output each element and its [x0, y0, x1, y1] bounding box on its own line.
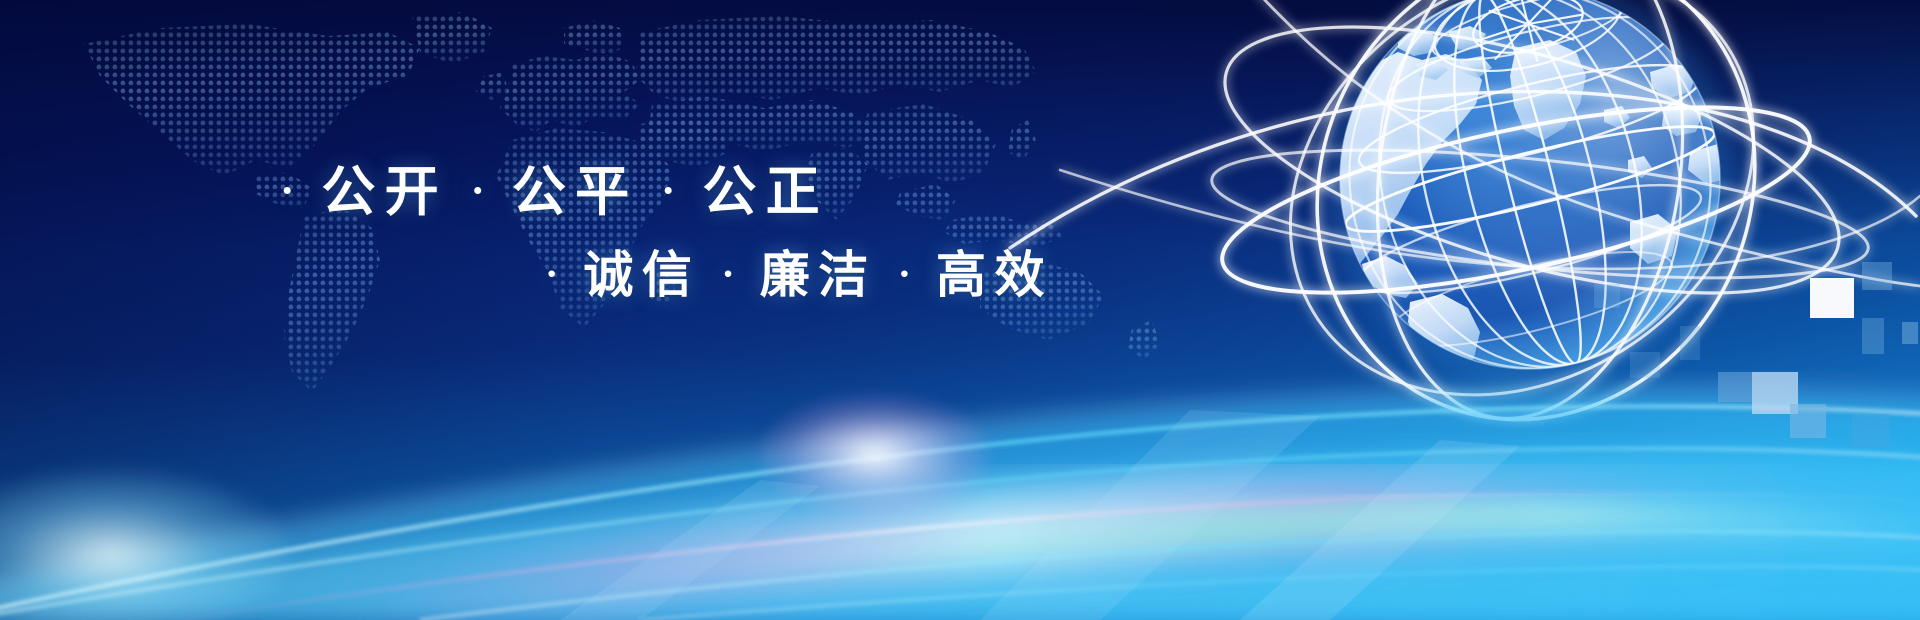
slogan-line-2: · 诚信 · 廉洁 · 高效: [545, 235, 1053, 307]
slogan-line-2-sep-2: ·: [898, 251, 915, 296]
square-pale-9: [1594, 284, 1620, 308]
slogan-block: · 公开 · 公平 · 公正 · 诚信 · 廉洁 · 高效: [0, 0, 1130, 360]
slogan-line-2-sep-1: ·: [721, 251, 738, 296]
slogan-line-2-word-0: 诚信: [583, 247, 700, 303]
square-pale-6: [1862, 318, 1884, 354]
slogan-line-1-word-0: 公开: [321, 162, 447, 222]
banner-root: · 公开 · 公平 · 公正 · 诚信 · 廉洁 · 高效: [0, 0, 1920, 620]
square-pale-4: [1852, 414, 1890, 448]
slogan-line-1-word-1: 公平: [512, 162, 638, 222]
square-pale-5: [1862, 262, 1892, 290]
square-pale-8: [1680, 326, 1700, 360]
slogan-line-1-sep-2: ·: [661, 168, 680, 215]
slogan-line-2-word-2: 高效: [936, 247, 1053, 303]
square-pale-10: [1630, 352, 1660, 378]
slogan-line-1-sep-1: ·: [470, 168, 489, 215]
slogan-line-2-word-1: 廉洁: [760, 247, 877, 303]
square-pale-7: [1902, 322, 1918, 344]
slogan-line-2-sep-0: ·: [545, 251, 562, 296]
square-pale-3: [1790, 404, 1826, 438]
slogan-line-1-word-2: 公正: [702, 162, 828, 222]
slogan-line-1-sep-0: ·: [280, 168, 299, 215]
square-white: [1810, 278, 1854, 318]
slogan-line-1: · 公开 · 公平 · 公正: [280, 147, 829, 226]
square-pale-2: [1718, 372, 1752, 402]
